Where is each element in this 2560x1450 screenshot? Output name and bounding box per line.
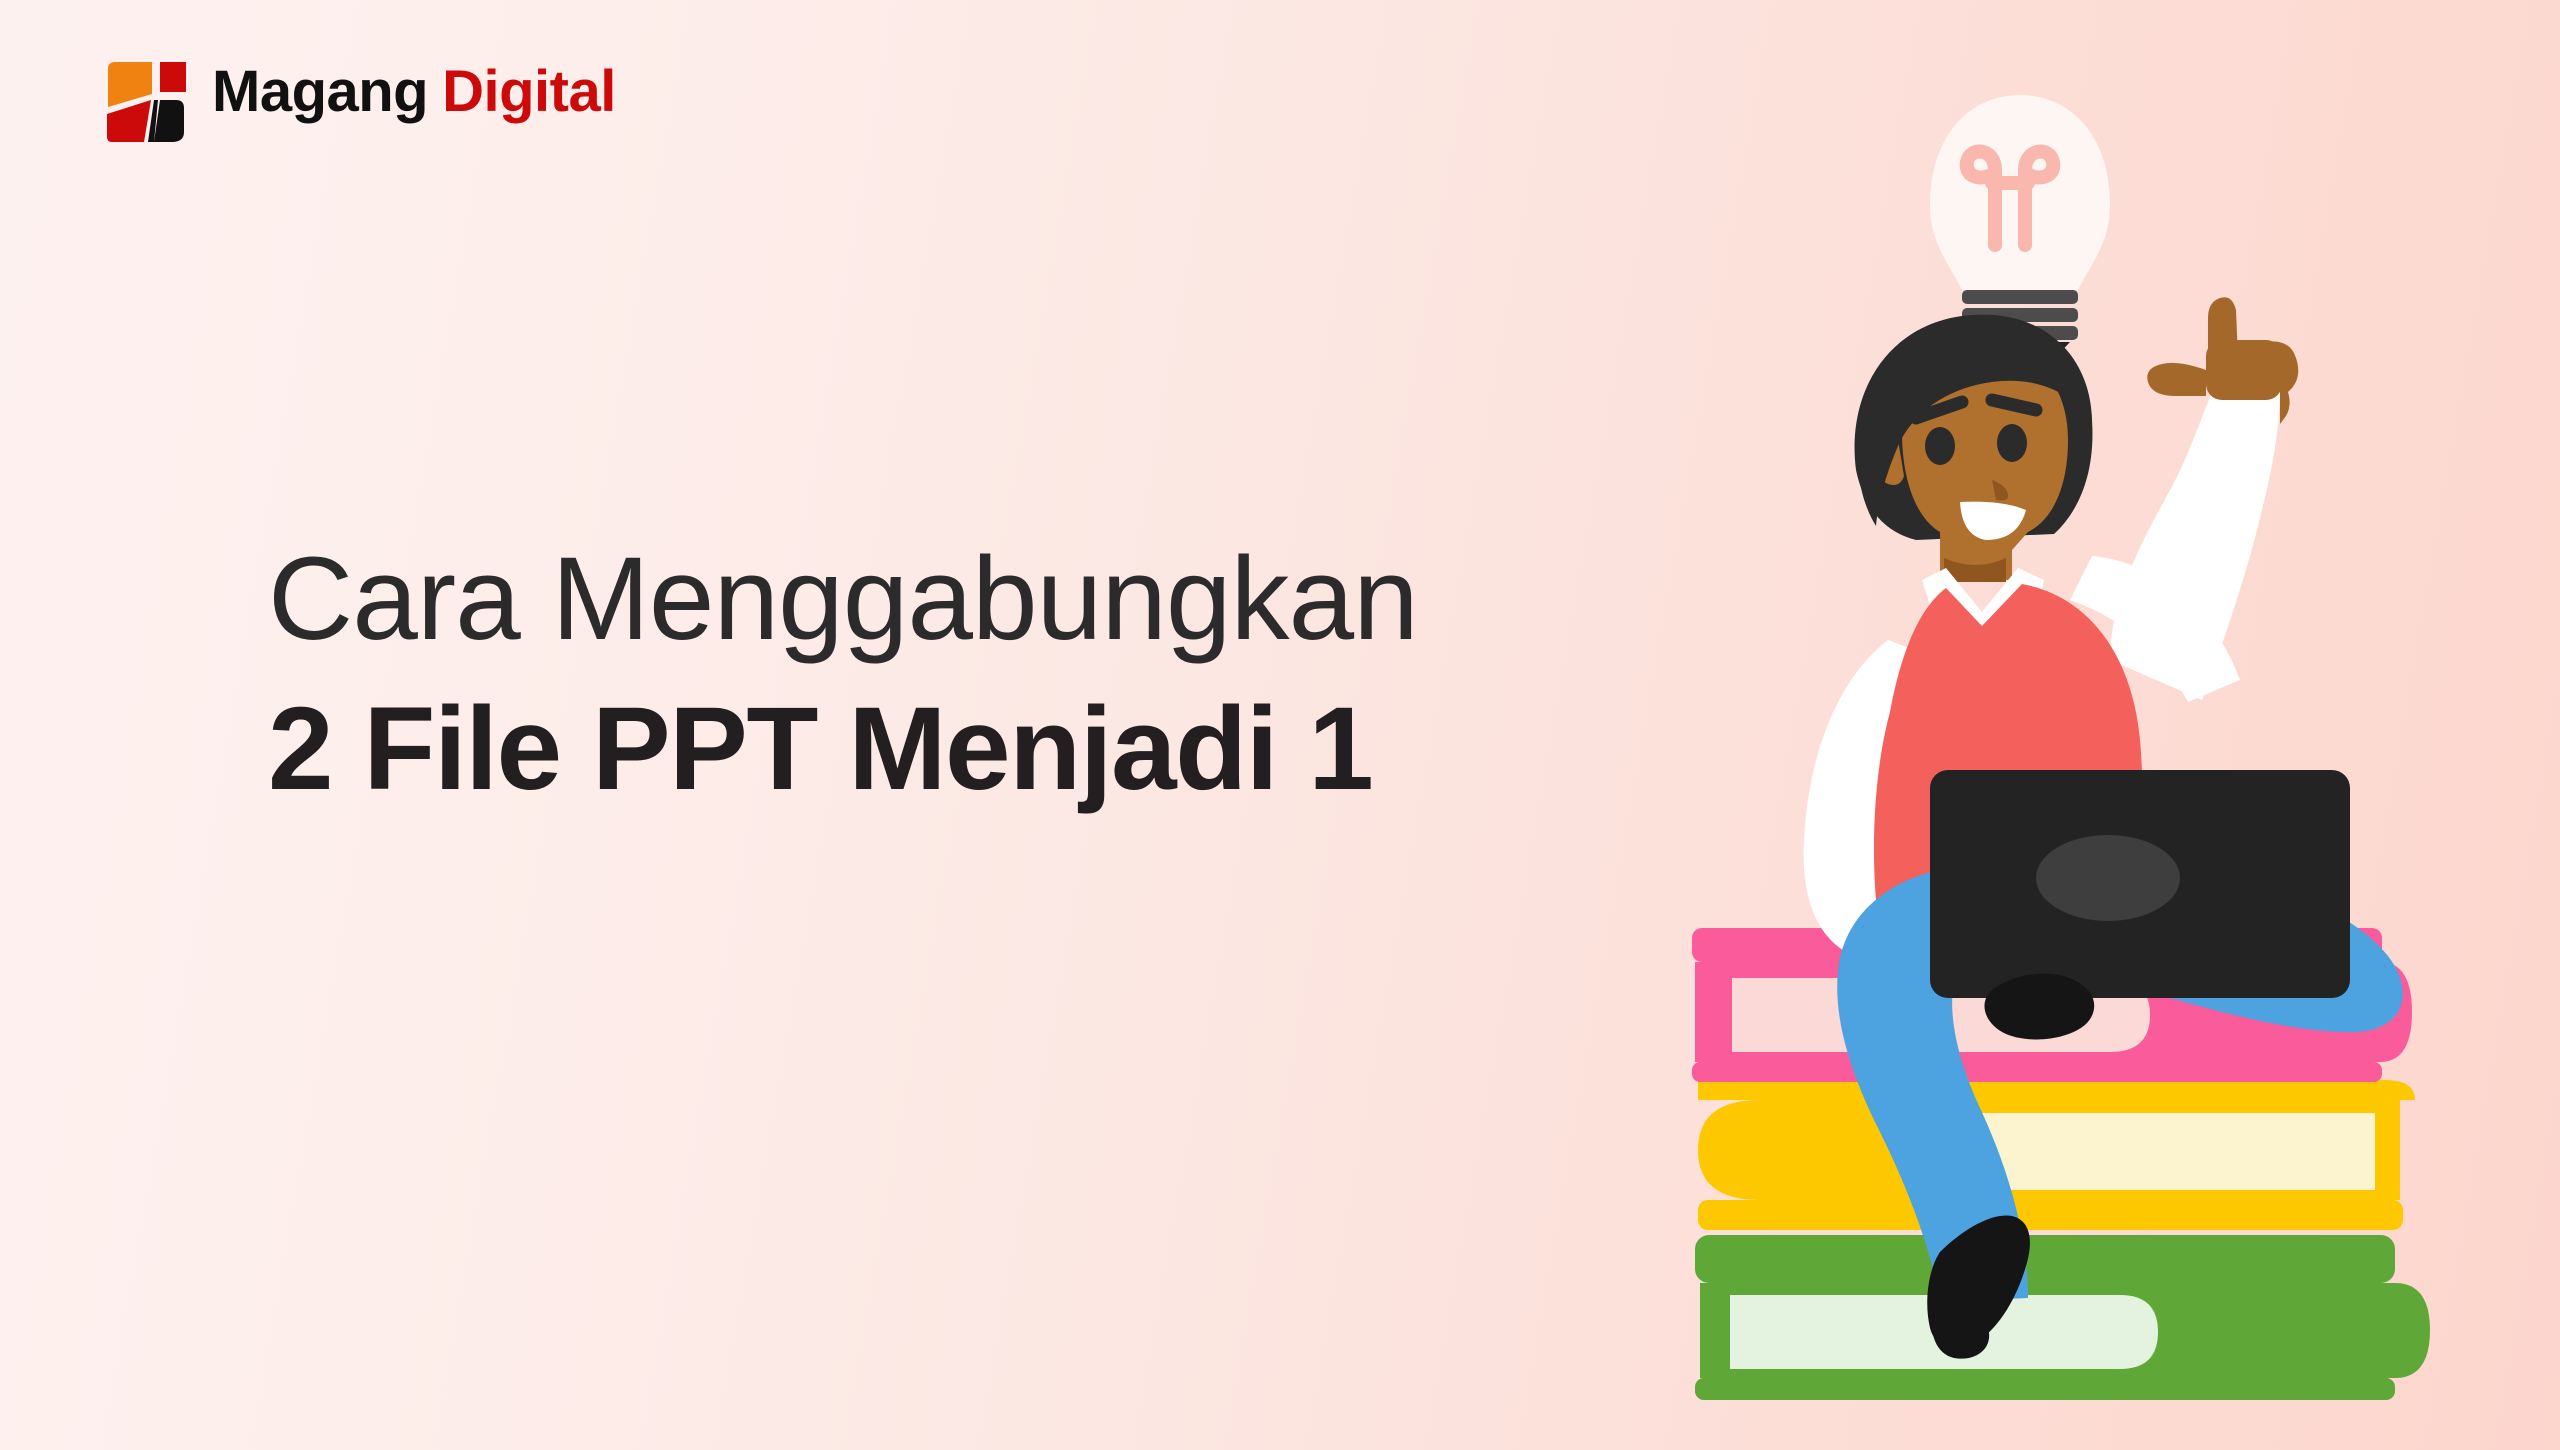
page-title-line-1: Cara Menggabungkan	[268, 528, 1588, 672]
book-green	[1695, 1235, 2430, 1400]
book-yellow	[1698, 1080, 2415, 1230]
laptop-icon	[1930, 770, 2350, 998]
magang-digital-logo-mark-icon	[104, 42, 186, 142]
brand-word-digital: Digital	[442, 63, 616, 121]
brand-logo-wordmark: MagangDigital	[212, 63, 616, 121]
page-title-line-2: 2 File PPT Menjadi 1	[268, 678, 1588, 822]
slide-canvas: MagangDigital Cara Menggabungkan 2 File …	[0, 0, 2560, 1450]
brand-logo[interactable]: MagangDigital	[104, 42, 616, 142]
hero-illustration	[1640, 40, 2470, 1410]
person-head	[1855, 315, 2093, 582]
page-title: Cara Menggabungkan 2 File PPT Menjadi 1	[268, 528, 1588, 822]
brand-word-magang: Magang	[212, 63, 428, 121]
